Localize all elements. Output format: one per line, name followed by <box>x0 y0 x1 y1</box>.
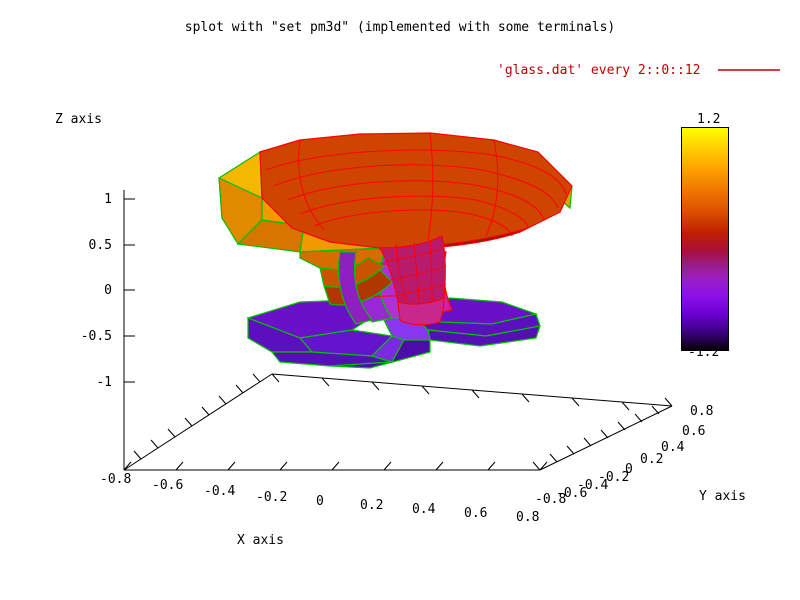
x-axis-ticks <box>124 374 629 470</box>
z-tick-label: 0.5 <box>52 238 112 253</box>
x-tick-label: 0 <box>316 494 324 509</box>
z-tick-label: 1 <box>52 192 112 207</box>
colorbar-max-label: 1.2 <box>697 112 720 127</box>
base-plane <box>124 374 672 470</box>
x-tick-label: 0.2 <box>360 498 383 513</box>
y-tick-label: 0.2 <box>640 452 663 467</box>
x-tick-label: 0.4 <box>412 502 435 517</box>
gnuplot-canvas: splot with "set pm3d" (implemented with … <box>0 0 800 600</box>
y-tick-label: 0 <box>625 462 633 477</box>
colorbar-min-label: -1.2 <box>688 345 719 360</box>
y-axis-label: Y axis <box>699 489 746 504</box>
y-tick-label: 0.8 <box>690 404 713 419</box>
y-tick-label: 0.6 <box>682 424 705 439</box>
z-axis-label: Z axis <box>55 112 102 127</box>
z-tick-label: 0 <box>52 283 112 298</box>
x-tick-label: -0.2 <box>256 490 287 505</box>
x-tick-label: -0.8 <box>100 472 131 487</box>
colorbar <box>681 127 729 351</box>
glass-inner-bowl <box>260 133 572 325</box>
y-tick-label: 0.4 <box>661 440 684 455</box>
z-tick-label: -0.5 <box>52 329 112 344</box>
x-tick-label: -0.6 <box>152 478 183 493</box>
x-axis-label: X axis <box>237 533 284 548</box>
plot-graphics <box>0 0 800 600</box>
x-tick-label: 0.6 <box>464 506 487 521</box>
z-tick-label: -1 <box>52 375 112 390</box>
z-axis <box>124 190 135 470</box>
y-axis-ticks <box>134 374 672 470</box>
x-tick-label: -0.4 <box>204 484 235 499</box>
x-tick-label: 0.8 <box>516 510 539 525</box>
